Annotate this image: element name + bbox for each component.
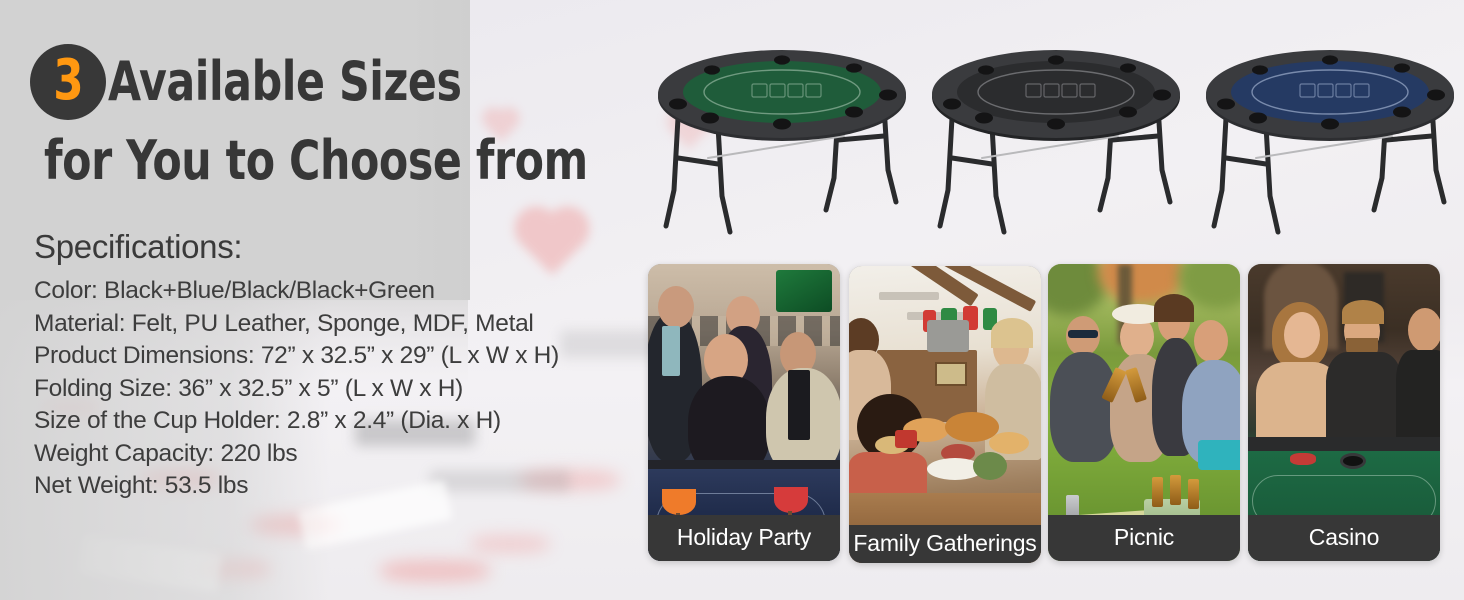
scene-person-head <box>1408 308 1440 352</box>
headline-line-1-row: 3 Available Sizes <box>30 44 650 120</box>
use-case-caption-holiday-party: Holiday Party <box>648 515 840 561</box>
scene-cocktail-glass <box>774 487 808 513</box>
use-case-caption-picnic: Picnic <box>1048 515 1240 561</box>
scene-person-hair <box>1154 294 1194 322</box>
use-case-caption-casino: Casino <box>1248 515 1440 561</box>
scene-picture-frame <box>935 362 967 386</box>
use-case-tile-holiday-party[interactable]: Holiday Party <box>648 264 840 561</box>
badge-number-text: 3 <box>53 53 83 109</box>
headline-line-1: Available Sizes <box>108 55 462 109</box>
scene-bottle <box>1170 475 1181 505</box>
scene-bottle <box>1152 477 1163 507</box>
scene-bottle <box>1188 479 1199 509</box>
scene-food <box>989 432 1029 454</box>
scene-person <box>1050 352 1118 462</box>
use-case-tile-picnic[interactable]: Picnic <box>1048 264 1240 561</box>
scene-cocktail-glass <box>662 489 696 515</box>
specifications-title: Specifications: <box>34 228 654 266</box>
scene-person-head <box>1284 312 1320 358</box>
infographic-canvas: 3 Available Sizes for You to Choose from… <box>0 0 1464 600</box>
scene-family-gatherings <box>849 266 1041 563</box>
scene-person-hair <box>1342 300 1384 324</box>
scene-person-hair <box>991 318 1033 348</box>
use-case-tile-casino[interactable]: Casino <box>1248 264 1440 561</box>
scene-person-shirt <box>788 370 810 440</box>
spec-line-product-dimensions: Product Dimensions: 72” x 32.5” x 29” (L… <box>34 340 654 373</box>
number-badge-3: 3 <box>30 44 106 120</box>
use-case-caption-family-gatherings: Family Gatherings <box>849 525 1041 563</box>
scene-person-shirt <box>662 326 680 376</box>
scene-shorts <box>1198 440 1240 470</box>
scene-tv <box>776 270 832 312</box>
scene-person-head <box>1194 320 1228 362</box>
scene-sunglasses <box>1068 330 1098 338</box>
scene-mug <box>895 430 917 448</box>
scene-stair <box>879 292 939 300</box>
use-case-tile-family-gatherings[interactable]: Family Gatherings <box>849 266 1041 563</box>
scene-chips <box>1290 453 1316 465</box>
scene-person-head <box>658 286 694 328</box>
spec-line-weight-capacity: Weight Capacity: 220 lbs <box>34 438 654 471</box>
spec-line-color: Color: Black+Blue/Black/Black+Green <box>34 275 654 308</box>
scene-tv <box>927 320 969 352</box>
scene-cup-holder <box>1340 453 1366 469</box>
headline-line-2: for You to Choose from <box>44 134 577 188</box>
spec-line-cup-holder-size: Size of the Cup Holder: 2.8” x 2.4” (Dia… <box>34 405 654 438</box>
scene-stair <box>907 312 969 320</box>
use-case-photo-family-gatherings <box>849 266 1041 563</box>
spec-line-folding-size: Folding Size: 36” x 32.5” x 5” (L x W x … <box>34 373 654 406</box>
specifications-block: Specifications: Color: Black+Blue/Black/… <box>34 228 654 503</box>
scene-pumpkin <box>973 452 1007 480</box>
spec-line-material: Material: Felt, PU Leather, Sponge, MDF,… <box>34 308 654 341</box>
spec-line-net-weight: Net Weight: 53.5 lbs <box>34 470 654 503</box>
headline-block: 3 Available Sizes for You to Choose from <box>30 44 650 188</box>
